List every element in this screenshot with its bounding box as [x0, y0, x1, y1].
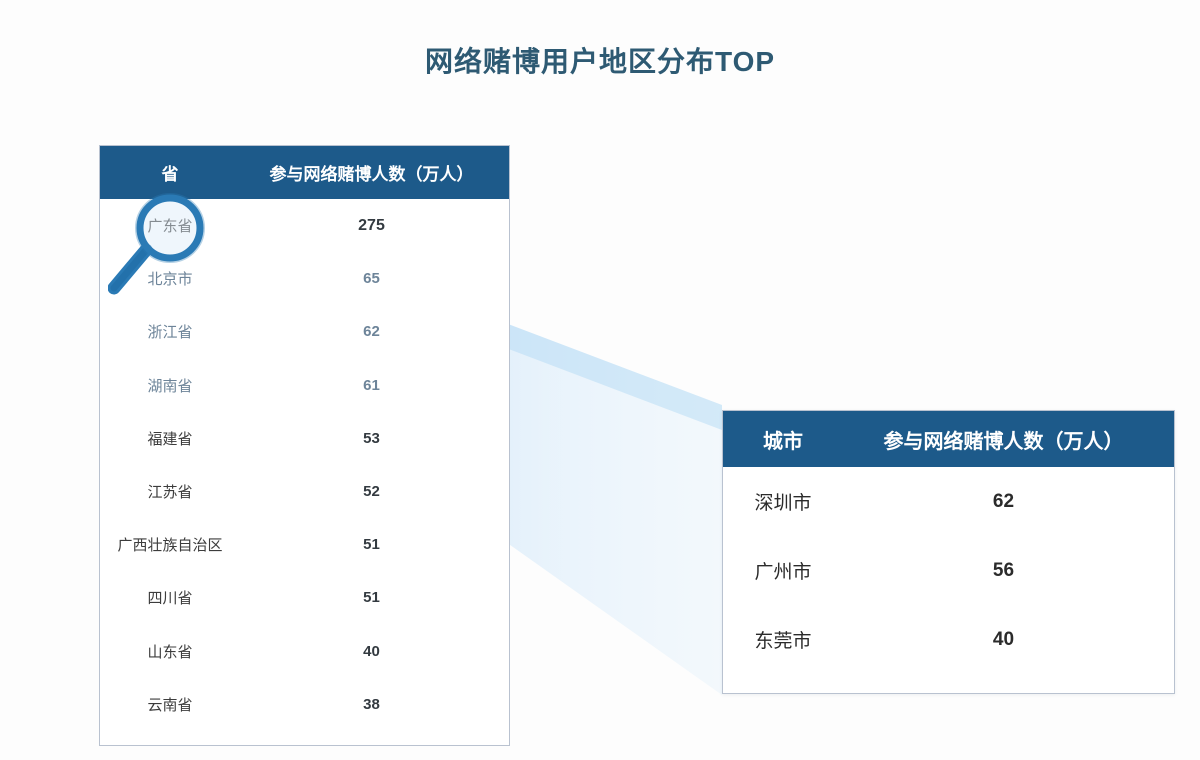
- city-name: 东莞市: [723, 626, 843, 653]
- city-column-header-value: 参与网络赌博人数（万人）: [843, 425, 1174, 454]
- city-table-header: 城市 参与网络赌博人数（万人）: [723, 411, 1174, 467]
- table-row[interactable]: 福建省 53: [100, 412, 509, 465]
- table-row[interactable]: 山东省 40: [100, 625, 509, 678]
- table-row[interactable]: 江苏省 52: [100, 465, 509, 518]
- table-row[interactable]: 云南省 38: [100, 678, 509, 731]
- table-row[interactable]: 广西壮族自治区 51: [100, 518, 509, 571]
- province-value: 51: [240, 536, 509, 553]
- table-row[interactable]: 湖南省 61: [100, 359, 509, 412]
- table-row[interactable]: 广州市 56: [723, 536, 1174, 605]
- table-row[interactable]: 浙江省 62: [100, 305, 509, 358]
- province-name: 湖南省: [100, 375, 240, 396]
- province-value: 53: [240, 430, 509, 447]
- table-row[interactable]: 四川省 51: [100, 571, 509, 624]
- province-column-header-value: 参与网络赌博人数（万人）: [240, 160, 509, 185]
- province-value: 40: [240, 643, 509, 660]
- table-row[interactable]: 深圳市 62: [723, 467, 1174, 536]
- province-table: 省 参与网络赌博人数（万人） 广东省 275 北京市 65 浙江省 62 湖南省…: [99, 145, 510, 746]
- page-title: 网络赌博用户地区分布TOP: [0, 40, 1200, 80]
- city-value: 62: [843, 491, 1174, 513]
- province-value: 65: [240, 270, 509, 287]
- province-name: 北京市: [100, 268, 240, 289]
- infographic-canvas: 网络赌博用户地区分布TOP 省 参与网络赌博人数（万人）: [0, 0, 1200, 760]
- table-row[interactable]: 北京市 65: [100, 252, 509, 305]
- province-value: 38: [240, 696, 509, 713]
- province-value: 62: [240, 323, 509, 340]
- city-table: 城市 参与网络赌博人数（万人） 深圳市 62 广州市 56 东莞市 40: [722, 410, 1175, 694]
- province-column-header-name: 省: [100, 160, 240, 185]
- province-value: 51: [240, 589, 509, 606]
- province-name: 四川省: [100, 587, 240, 608]
- province-table-header: 省 参与网络赌博人数（万人）: [100, 146, 509, 199]
- province-value: 61: [240, 377, 509, 394]
- province-name: 广东省: [100, 215, 240, 236]
- province-table-body: 广东省 275 北京市 65 浙江省 62 湖南省 61 福建省 53 江苏省: [100, 199, 509, 745]
- province-name: 福建省: [100, 428, 240, 449]
- city-name: 深圳市: [723, 488, 843, 515]
- province-value: 275: [240, 217, 509, 235]
- province-name: 山东省: [100, 641, 240, 662]
- province-name: 广西壮族自治区: [100, 534, 240, 555]
- table-row[interactable]: 广东省 275: [100, 199, 509, 252]
- city-column-header-name: 城市: [723, 425, 843, 454]
- city-name: 广州市: [723, 557, 843, 584]
- city-value: 40: [843, 629, 1174, 651]
- province-name: 江苏省: [100, 481, 240, 502]
- table-row[interactable]: 东莞市 40: [723, 605, 1174, 674]
- province-name: 云南省: [100, 694, 240, 715]
- province-value: 52: [240, 483, 509, 500]
- province-name: 浙江省: [100, 321, 240, 342]
- city-value: 56: [843, 560, 1174, 582]
